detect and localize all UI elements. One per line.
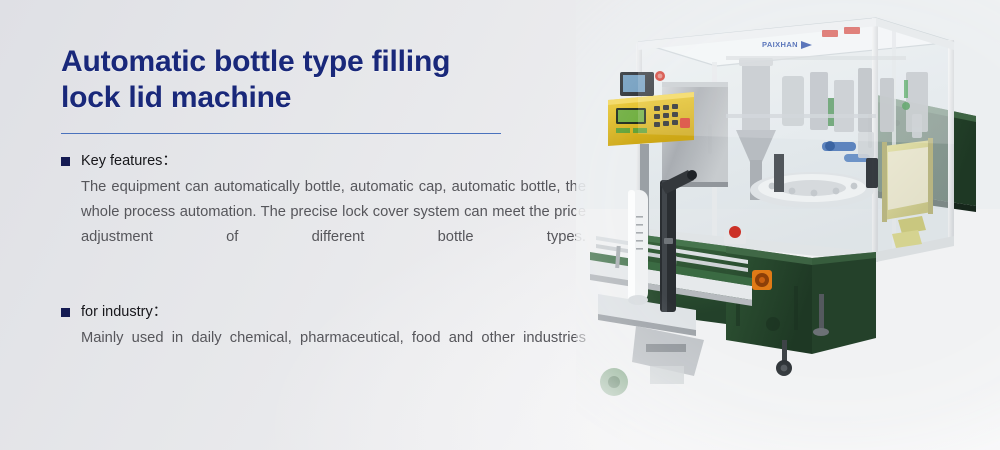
rotary-switch-icon <box>752 270 772 290</box>
page-title: Automatic bottle type filling lock lid m… <box>61 44 601 116</box>
page-title-line-1: Automatic bottle type filling <box>61 45 450 78</box>
for-industry-label: for industry： <box>81 303 167 321</box>
sensor-column <box>628 190 648 305</box>
for-industry-heading: for industry： <box>61 303 601 321</box>
product-banner: Automatic bottle type filling lock lid m… <box>0 0 1000 450</box>
square-bullet-icon <box>61 157 70 166</box>
text-column: Automatic bottle type filling lock lid m… <box>61 44 601 376</box>
key-features-label: Key features： <box>81 152 177 170</box>
feature-block-for-industry: for industry： Mainly used in daily chemi… <box>61 303 601 376</box>
square-bullet-icon <box>61 308 70 317</box>
page-title-line-2: lock lid machine <box>61 80 601 116</box>
for-industry-body: Mainly used in daily chemical, pharmaceu… <box>81 326 586 376</box>
product-photo: PAIXHAN <box>576 0 1000 450</box>
key-features-heading: Key features： <box>61 152 601 170</box>
title-divider <box>61 133 501 134</box>
key-features-body: The equipment can automatically bottle, … <box>81 175 586 275</box>
feature-block-key-features: Key features： The equipment can automati… <box>61 152 601 275</box>
